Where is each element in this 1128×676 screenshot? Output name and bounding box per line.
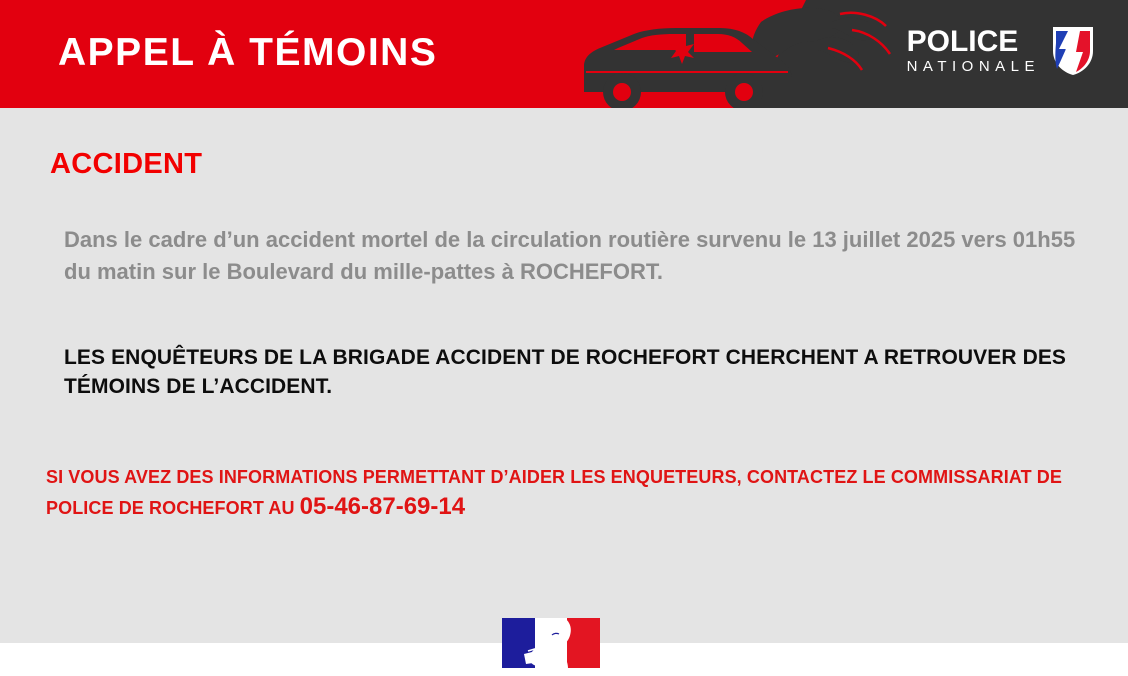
appel-a-temoins-poster: APPEL À TÉMOINS POLICE NATIONALE ACCIDEN…	[0, 0, 1128, 676]
contact-instructions-text: SI VOUS AVEZ DES INFORMATIONS PERMETTANT…	[46, 467, 1062, 518]
police-logo-main: POLICE	[907, 26, 1040, 58]
banner-title: APPEL À TÉMOINS	[58, 28, 437, 78]
police-logo-words: POLICE NATIONALE	[907, 26, 1040, 76]
police-flame-shield-icon	[1050, 25, 1096, 77]
witness-appeal-paragraph: LES ENQUÊTEURS DE LA BRIGADE ACCIDENT DE…	[64, 343, 1084, 401]
police-nationale-logo: POLICE NATIONALE	[907, 25, 1096, 77]
marianne-french-republic-logo	[502, 618, 600, 668]
header-banner: APPEL À TÉMOINS POLICE NATIONALE	[0, 0, 1128, 108]
poster-content: ACCIDENT Dans le cadre d’un accident mor…	[0, 108, 1128, 643]
police-logo-sub: NATIONALE	[907, 58, 1040, 76]
page-title: ACCIDENT	[50, 148, 202, 181]
accident-context-paragraph: Dans le cadre d’un accident mortel de la…	[64, 224, 1084, 288]
contact-phone-number[interactable]: 05-46-87-69-14	[300, 493, 465, 520]
contact-instructions-paragraph: SI VOUS AVEZ DES INFORMATIONS PERMETTANT…	[46, 463, 1086, 523]
